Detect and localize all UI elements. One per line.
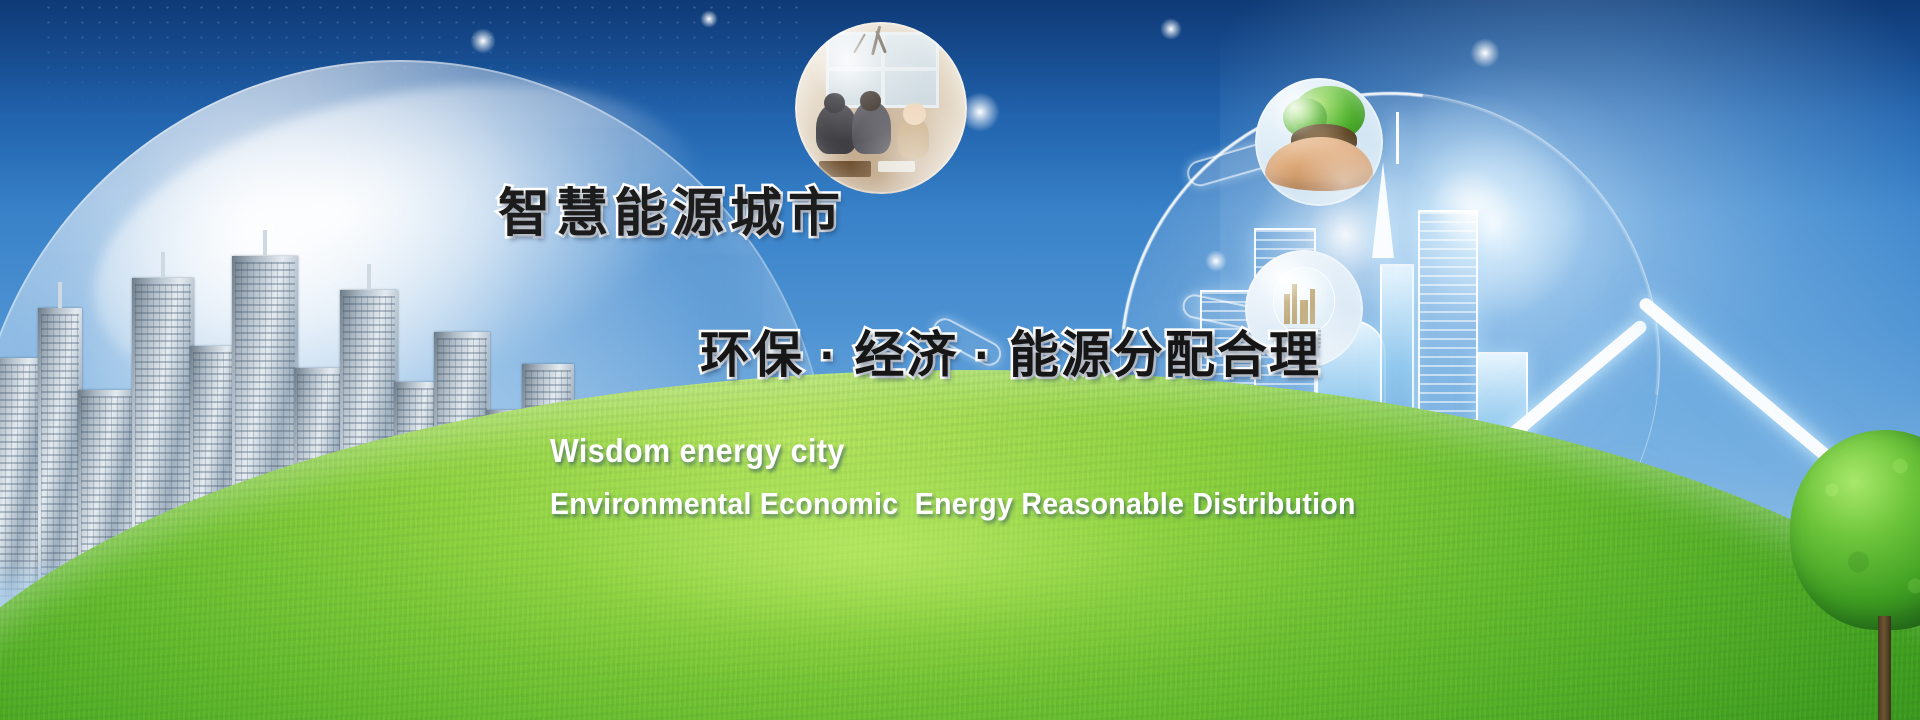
subheadline-english: Environmental Economic Energy Reasonable… xyxy=(550,486,1356,522)
headline-english: Wisdom energy city xyxy=(550,432,845,470)
headline-chinese: 智慧能源城市 xyxy=(498,188,846,240)
banner-text-block: 智慧能源城市 环保 · 经济 · 能源分配合理 Wisdom energy ci… xyxy=(0,0,1920,720)
subheadline-chinese: 环保 · 经济 · 能源分配合理 xyxy=(700,330,1321,380)
energy-city-banner: 智慧能源城市 环保 · 经济 · 能源分配合理 Wisdom energy ci… xyxy=(0,0,1920,720)
